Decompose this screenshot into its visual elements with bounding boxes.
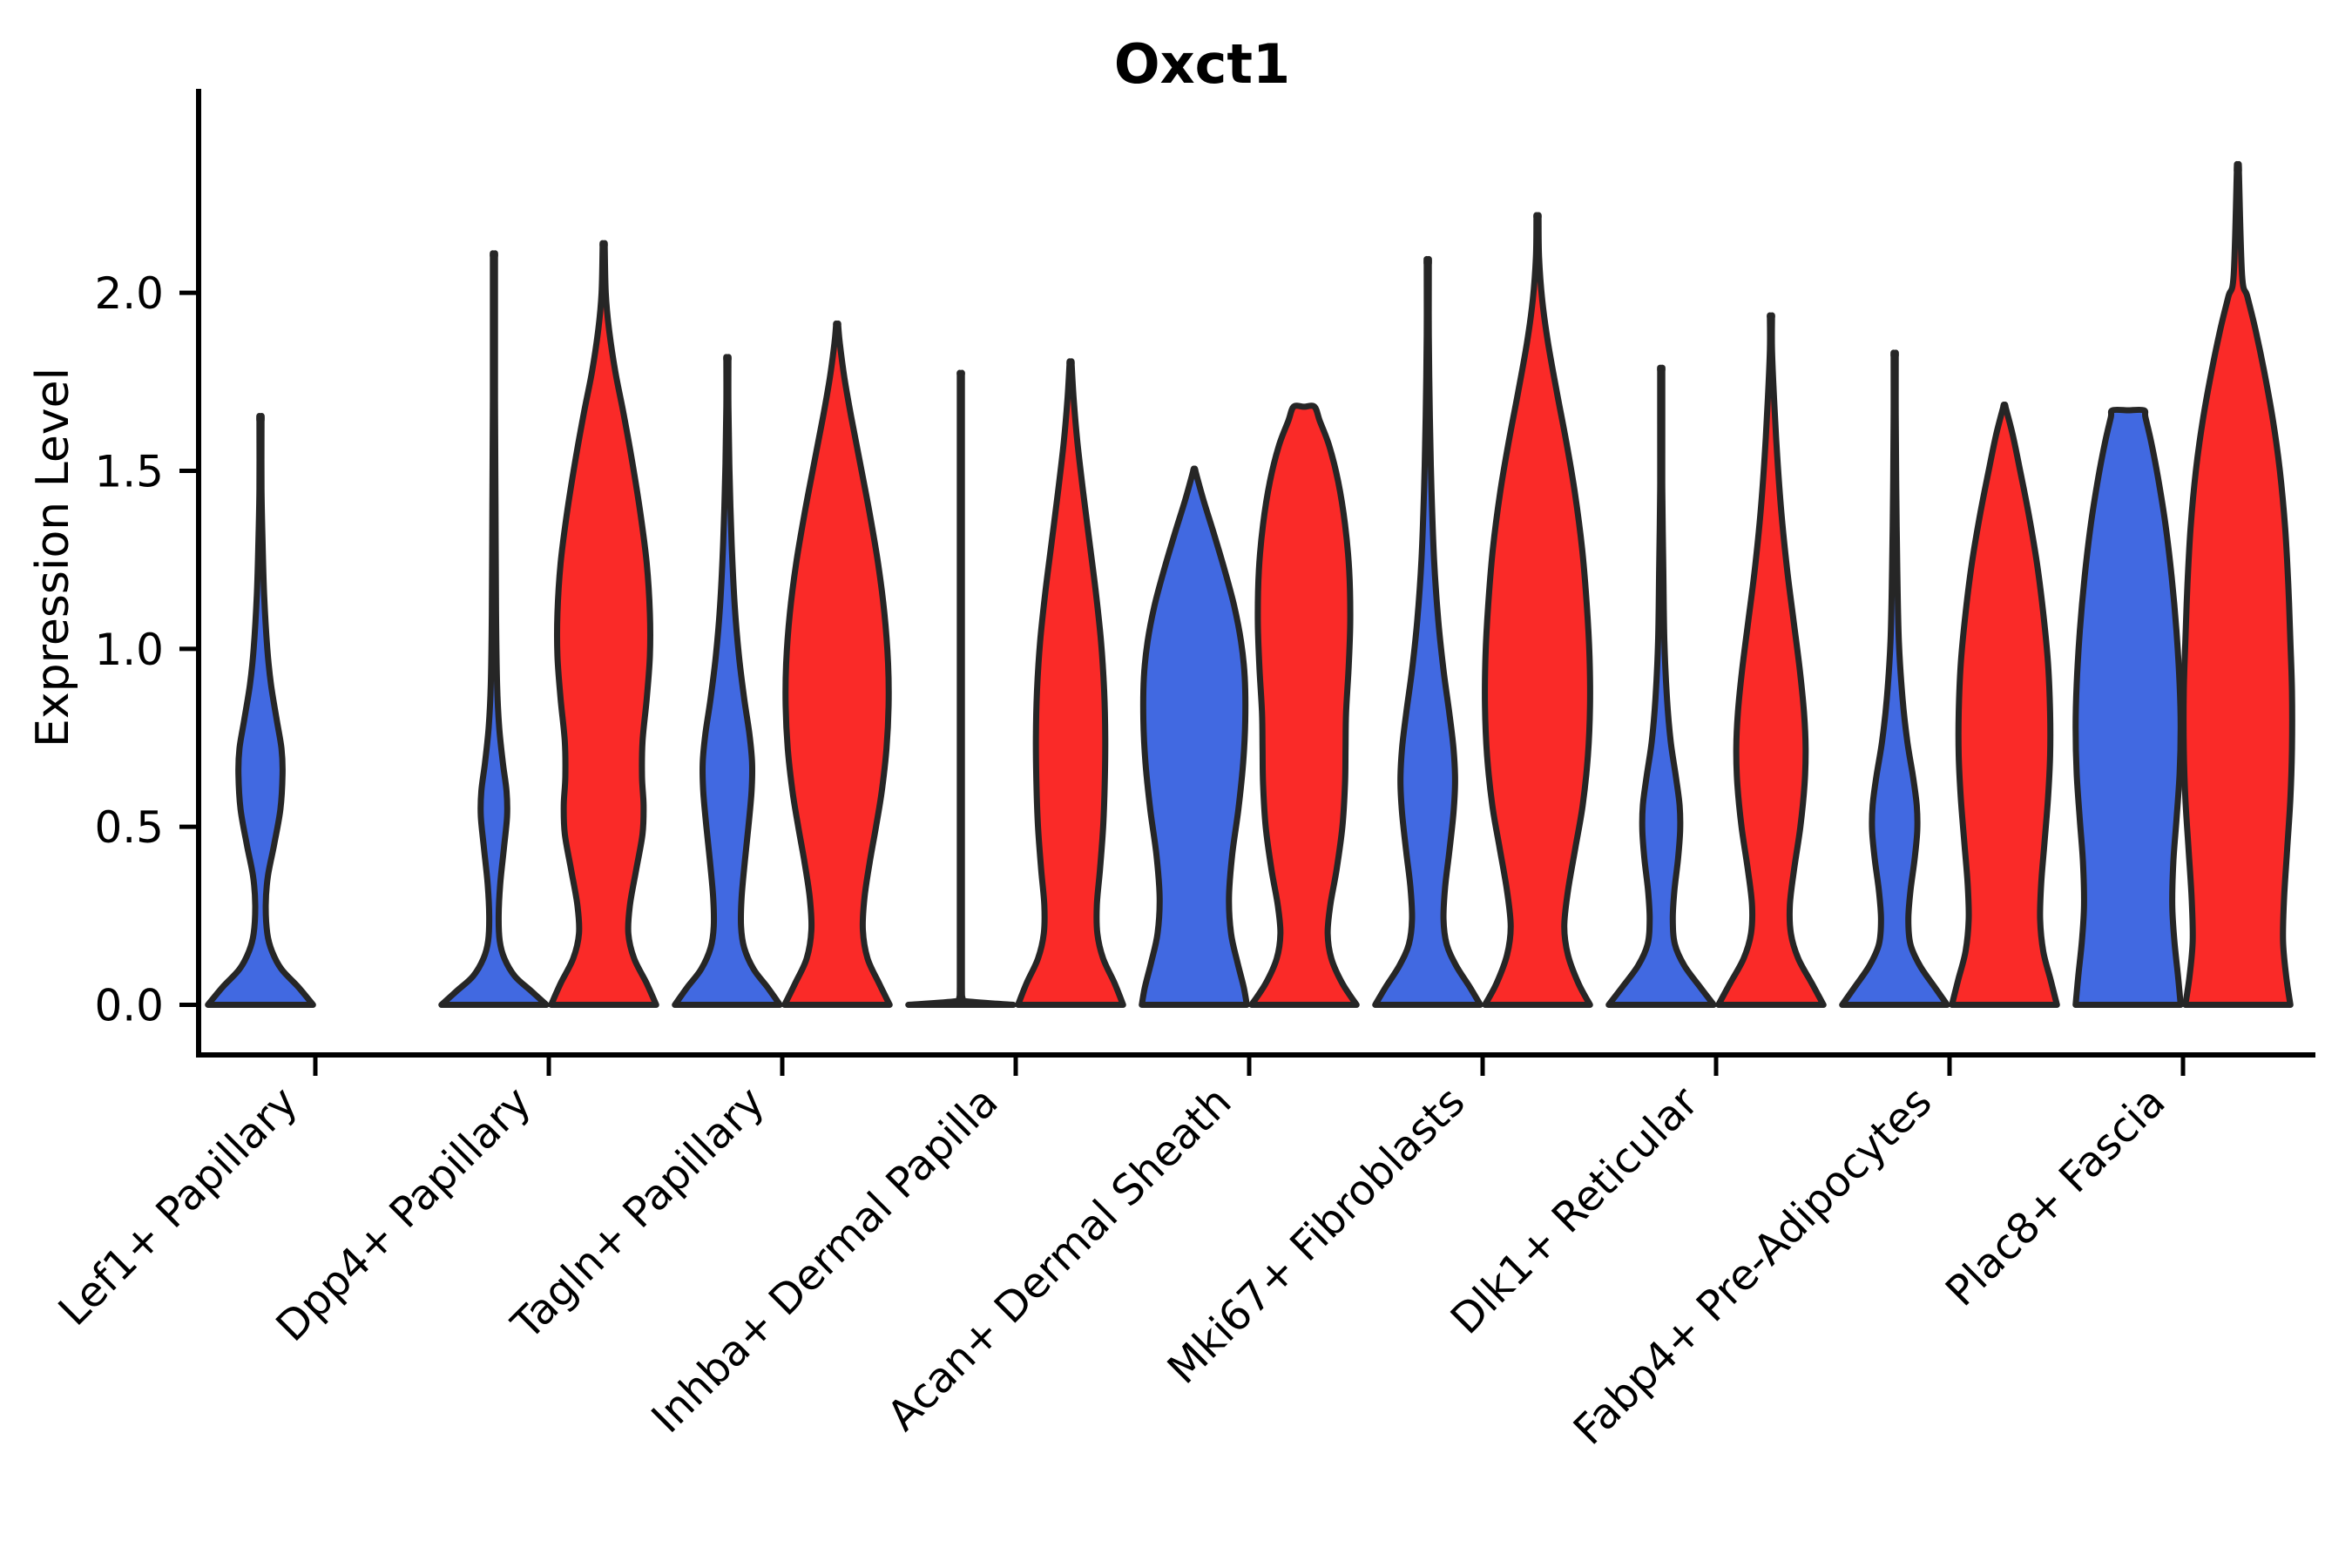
y-tick-label: 2.0 xyxy=(94,268,164,319)
x-tick-label: Dlk1+ Reticular xyxy=(1442,1078,1708,1344)
y-tick-label: 0.0 xyxy=(94,980,164,1031)
y-tick-label: 1.0 xyxy=(94,625,164,675)
x-tick-label: Dpp4+ Papillary xyxy=(267,1078,540,1351)
violin-layer xyxy=(208,164,2293,1004)
page-title: Oxct1 xyxy=(1114,32,1290,96)
y-tick-label: 0.5 xyxy=(94,802,164,853)
y-tick-label: 1.5 xyxy=(94,446,164,497)
violin-shape xyxy=(1018,362,1124,1005)
violin-shape xyxy=(551,243,657,1004)
x-axis-ticks: Lef1+ PapillaryDpp4+ PapillaryTagln+ Pap… xyxy=(50,1055,2183,1455)
violin-plot-figure: Oxct1 Expression Level 0.00.51.01.52.0 L… xyxy=(0,0,2352,1568)
violin-shape xyxy=(1485,215,1591,1004)
violin-shape xyxy=(1252,406,1357,1005)
x-tick-label: Tagln+ Papillary xyxy=(502,1078,774,1349)
x-tick-label: Plac8+ Fascia xyxy=(1936,1078,2175,1316)
plot-canvas: Oxct1 Expression Level 0.00.51.01.52.0 L… xyxy=(0,0,2352,1568)
violin-shape xyxy=(442,253,547,1005)
violin-shape xyxy=(785,323,890,1004)
violin-shape xyxy=(1375,259,1481,1004)
violin-shape xyxy=(1719,315,1824,1004)
y-axis-label: Expression Level xyxy=(27,368,79,747)
violin-shape xyxy=(1142,469,1247,1004)
violin-shape xyxy=(1842,353,1948,1005)
violin-shape xyxy=(909,373,1014,1004)
violin-shape xyxy=(2184,164,2293,1004)
violin-shape xyxy=(1609,368,1714,1004)
violin-shape xyxy=(2076,409,2181,1004)
violin-shape xyxy=(675,357,781,1005)
y-axis-ticks: 0.00.51.01.52.0 xyxy=(94,268,199,1031)
violin-shape xyxy=(1952,405,2058,1005)
violin-shape xyxy=(208,416,314,1005)
x-tick-label: Lef1+ Papillary xyxy=(50,1078,308,1335)
